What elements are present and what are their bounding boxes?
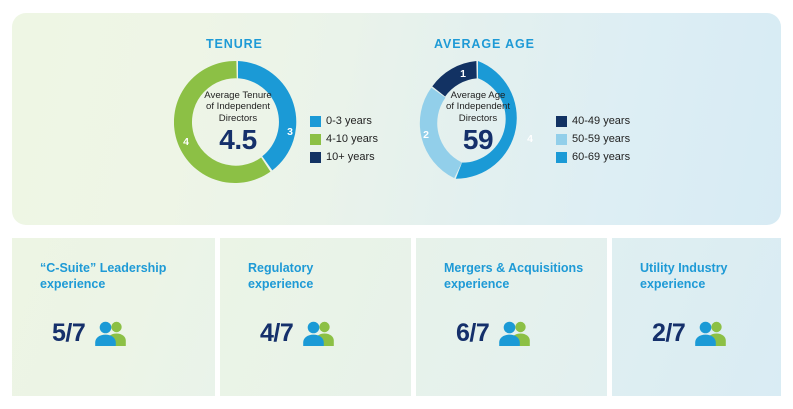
donut-chart-tenure: Average Tenure of Independent Directors … — [174, 58, 302, 186]
legend-item-tenure-0[interactable]: 0-3 years — [310, 113, 378, 129]
infographic-root: TENURE Average Tenure of Independent Dir… — [0, 0, 793, 409]
legend-label-age-0: 40-49 years — [572, 115, 630, 127]
legend-label-age-1: 50-59 years — [572, 133, 630, 145]
experience-cards: “C-Suite” Leadership experience 5/7 — [12, 238, 781, 396]
chart-title-average-age: AVERAGE AGE — [434, 37, 535, 51]
donut-svg-tenure — [174, 58, 302, 186]
legend-swatch-blue-icon — [556, 152, 567, 163]
legend-tenure: 0-3 years 4-10 years 10+ years — [310, 113, 378, 167]
donut-chart-average-age: Average Age of Independent Directors 59 … — [414, 58, 542, 186]
people-icon — [498, 320, 532, 348]
legend-swatch-green-icon — [310, 134, 321, 145]
legend-item-age-2[interactable]: 60-69 years — [556, 149, 630, 165]
legend-swatch-lightblue-icon — [556, 134, 567, 145]
donut-label-age-navy: 1 — [460, 68, 466, 80]
legend-label-tenure-1: 4-10 years — [326, 133, 378, 145]
experience-card-regulatory[interactable]: Regulatory experience 4/7 — [220, 238, 411, 396]
card-title-line-1: Utility Industry — [640, 260, 781, 276]
legend-item-age-0[interactable]: 40-49 years — [556, 113, 630, 129]
card-stat-c-suite: 5/7 — [52, 319, 128, 348]
donut-label-age-blue: 4 — [527, 133, 533, 145]
card-title-line-1: Mergers & Acquisitions — [444, 260, 607, 276]
legend-item-age-1[interactable]: 50-59 years — [556, 131, 630, 147]
legend-item-tenure-1[interactable]: 4-10 years — [310, 131, 378, 147]
card-title-line-2: experience — [248, 276, 411, 292]
donut-label-tenure-blue: 3 — [287, 126, 293, 138]
chart-title-tenure: TENURE — [206, 37, 263, 51]
donut-segment-age-40-49[interactable] — [432, 61, 476, 96]
card-title-line-2: experience — [444, 276, 607, 292]
card-stat-utility-industry: 2/7 — [652, 319, 728, 348]
legend-label-tenure-2: 10+ years — [326, 151, 375, 163]
card-ratio-mergers-acquisitions: 6/7 — [456, 319, 489, 348]
card-ratio-utility-industry: 2/7 — [652, 319, 685, 348]
card-title-utility-industry: Utility Industry experience — [640, 260, 781, 292]
card-ratio-regulatory: 4/7 — [260, 319, 293, 348]
experience-card-c-suite[interactable]: “C-Suite” Leadership experience 5/7 — [12, 238, 215, 396]
donut-svg-average-age — [414, 58, 542, 186]
legend-swatch-navy-icon — [556, 116, 567, 127]
charts-panel: TENURE Average Tenure of Independent Dir… — [12, 13, 781, 225]
donut-label-age-lightblue: 2 — [423, 129, 429, 141]
card-stat-regulatory: 4/7 — [260, 319, 336, 348]
card-title-c-suite: “C-Suite” Leadership experience — [40, 260, 208, 292]
chart-average-age: AVERAGE AGE Average Age of Independent D… — [408, 13, 668, 225]
card-title-line-1: Regulatory — [248, 260, 411, 276]
experience-card-utility-industry[interactable]: Utility Industry experience 2/7 — [612, 238, 781, 396]
people-icon — [94, 320, 128, 348]
legend-swatch-navy-icon — [310, 152, 321, 163]
card-title-line-1: “C-Suite” Leadership — [40, 260, 208, 276]
legend-item-tenure-2[interactable]: 10+ years — [310, 149, 378, 165]
donut-segment-tenure-0-3[interactable] — [238, 61, 296, 170]
card-title-line-2: experience — [640, 276, 781, 292]
card-title-line-2: experience — [40, 276, 208, 292]
experience-card-mergers-acquisitions[interactable]: Mergers & Acquisitions experience 6/7 — [416, 238, 607, 396]
card-title-mergers-acquisitions: Mergers & Acquisitions experience — [444, 260, 607, 292]
people-icon — [302, 320, 336, 348]
donut-label-tenure-green: 4 — [183, 136, 189, 148]
legend-swatch-blue-icon — [310, 116, 321, 127]
chart-tenure: TENURE Average Tenure of Independent Dir… — [168, 13, 408, 225]
people-icon — [694, 320, 728, 348]
card-title-regulatory: Regulatory experience — [248, 260, 411, 292]
legend-label-tenure-0: 0-3 years — [326, 115, 372, 127]
legend-average-age: 40-49 years 50-59 years 60-69 years — [556, 113, 630, 167]
card-stat-mergers-acquisitions: 6/7 — [456, 319, 532, 348]
legend-label-age-2: 60-69 years — [572, 151, 630, 163]
card-ratio-c-suite: 5/7 — [52, 319, 85, 348]
